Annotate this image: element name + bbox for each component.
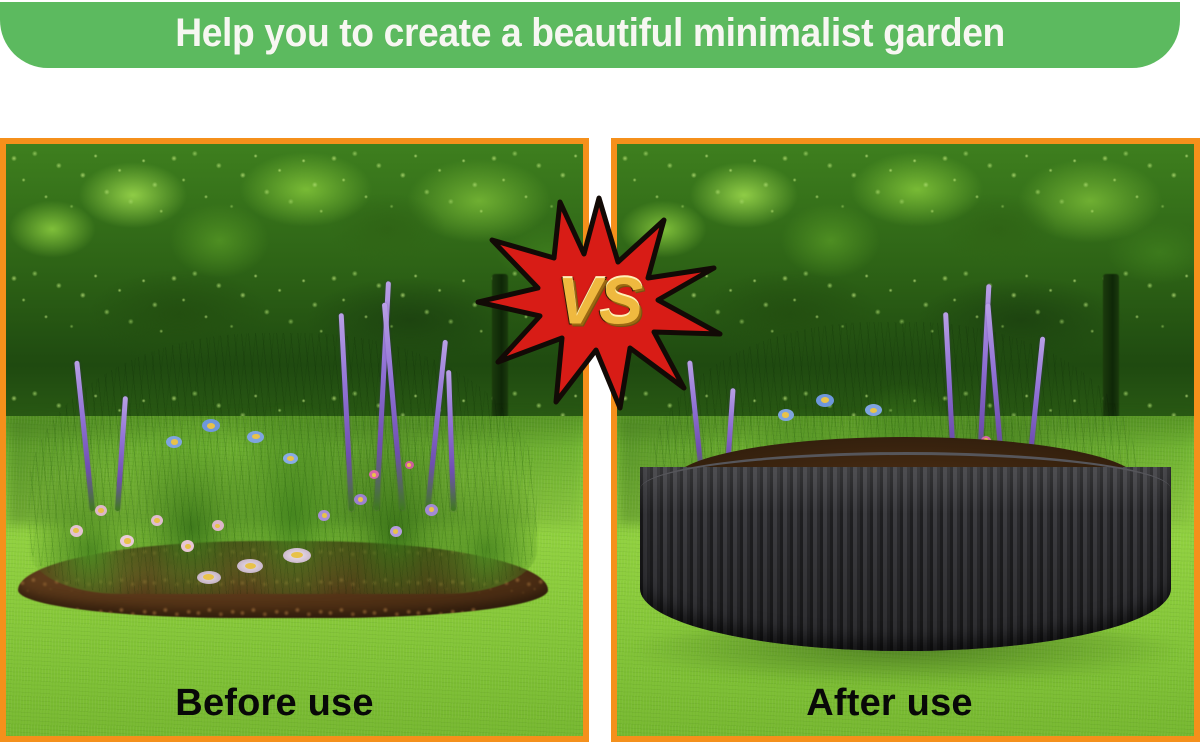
banner-title: Help you to create a beautiful minimalis… xyxy=(175,13,1005,57)
garden-scene-before xyxy=(6,144,583,736)
blue-blossom xyxy=(283,453,298,464)
header-banner: Help you to create a beautiful minimalis… xyxy=(0,2,1180,68)
after-panel: After use xyxy=(611,138,1200,742)
ring-top-rim xyxy=(640,452,1171,527)
garden-scene-after xyxy=(617,144,1194,736)
purple-blossom xyxy=(425,504,438,516)
magenta-blossom xyxy=(405,461,414,469)
product-infographic: Help you to create a beautiful minimalis… xyxy=(0,0,1200,749)
white-spider-flower xyxy=(197,571,221,584)
before-image: Before use xyxy=(6,144,583,736)
before-caption: Before use xyxy=(6,684,563,722)
flower-bed-before xyxy=(29,333,537,593)
pink-daisy xyxy=(70,525,83,537)
blue-blossom xyxy=(778,409,794,421)
pink-daisy xyxy=(95,505,107,516)
purple-blossom xyxy=(390,526,402,537)
white-spider-flower xyxy=(283,548,311,563)
before-panel: Before use xyxy=(0,138,589,742)
metal-garden-edging-ring xyxy=(640,422,1171,671)
after-caption: After use xyxy=(617,684,1178,722)
after-image: After use xyxy=(617,144,1194,736)
panel-divider xyxy=(589,138,611,742)
